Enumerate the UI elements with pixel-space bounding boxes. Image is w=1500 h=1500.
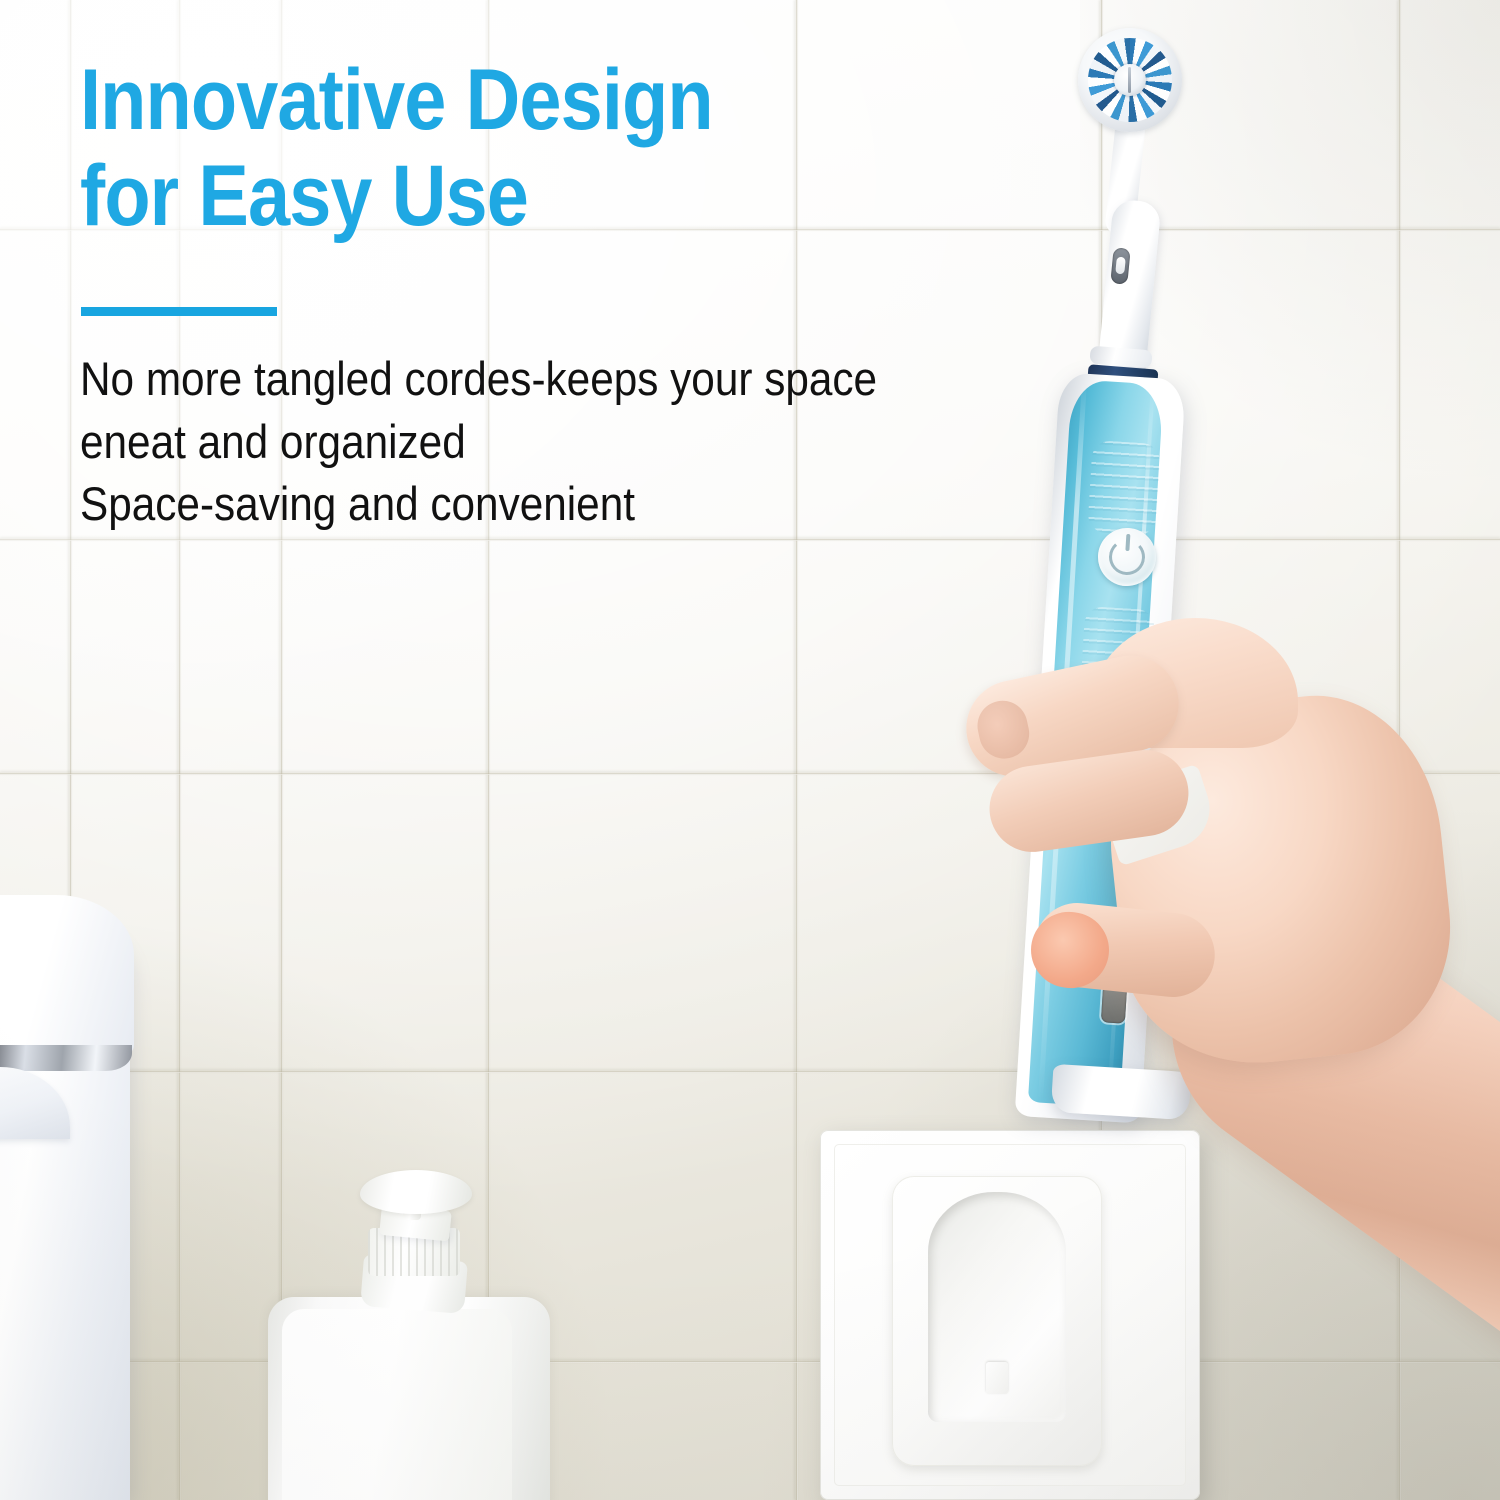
product-feature-banner: Innovative Design for Easy Use No more t… — [0, 0, 1500, 1500]
electric-toothbrush — [930, 10, 1250, 1130]
faucet-chrome-trim — [0, 1045, 132, 1071]
power-icon — [1108, 538, 1146, 576]
accent-divider — [81, 307, 277, 316]
body-text: No more tangled cordes-keeps your space … — [80, 348, 1034, 536]
toothbrush-handle-base — [1051, 1064, 1192, 1120]
wall-mounted-charging-holder — [820, 1130, 1200, 1500]
faucet-head — [0, 895, 134, 1055]
handle-ridges-lower — [1079, 606, 1156, 720]
handle-ridges-upper — [1087, 440, 1160, 536]
soap-dispenser — [250, 1170, 550, 1500]
battery-icon — [1098, 914, 1126, 961]
brush-head-center — [1114, 64, 1146, 96]
charging-plug-icon — [1101, 984, 1127, 1023]
grout-line-horizontal — [0, 772, 1500, 775]
soap-pump-cap — [360, 1170, 472, 1214]
bathroom-faucet — [0, 895, 145, 1500]
holder-charging-peg — [986, 1362, 1008, 1394]
page-title: Innovative Design for Easy Use — [80, 52, 925, 245]
soap-bottle-front — [282, 1309, 512, 1500]
